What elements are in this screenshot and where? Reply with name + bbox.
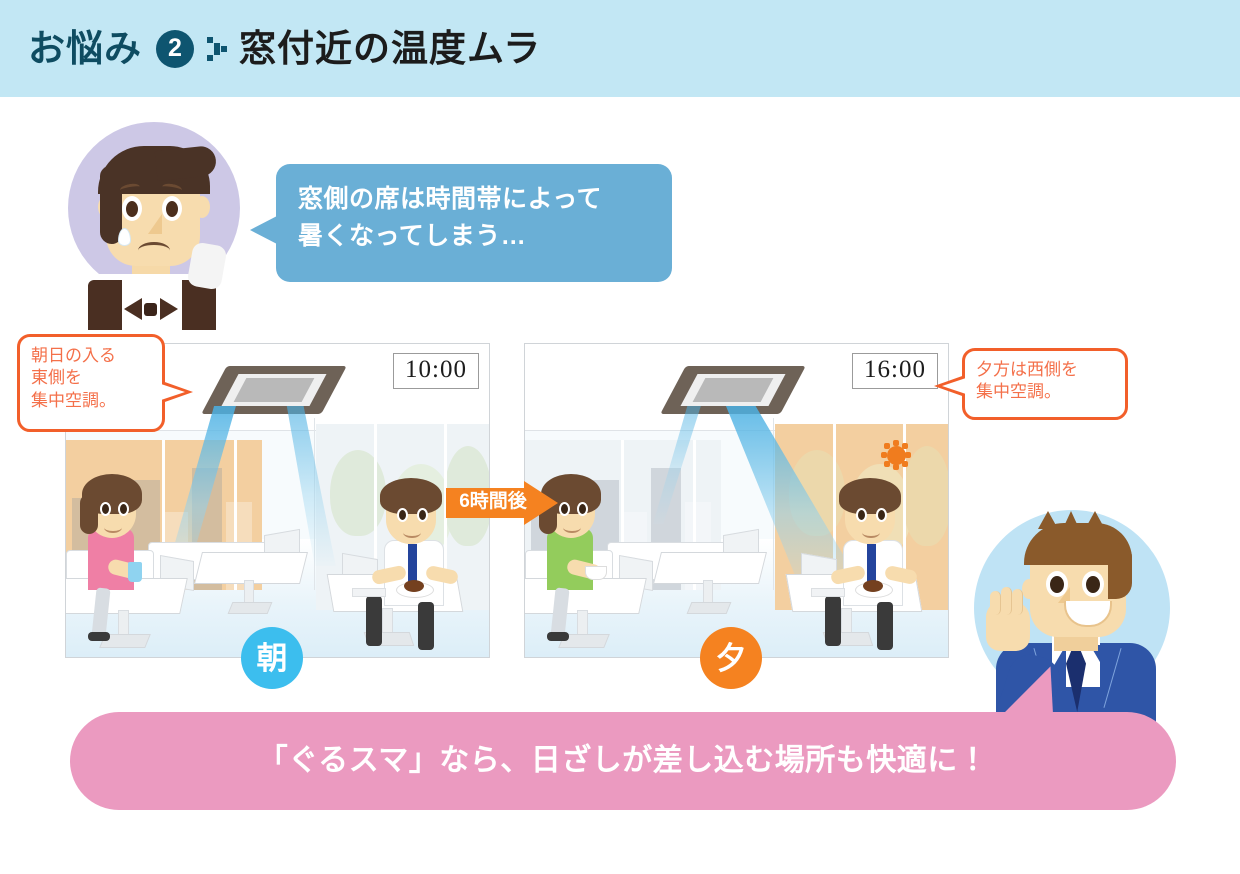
pink-banner-text: 「ぐるスマ」なら、日ざしが差し込む場所も快適に！ <box>258 746 989 776</box>
drinking-glass-icon <box>128 562 142 582</box>
salesman-brow-left <box>1044 559 1066 569</box>
callout-left: 朝日の入る 東側を 集中空調。 <box>17 334 165 432</box>
man-leg-left <box>366 596 382 646</box>
food-icon <box>404 580 424 592</box>
clock-label-evening: 16:00 <box>852 353 938 389</box>
salesman-eye-right <box>1082 571 1104 597</box>
salesman-brow-right <box>1082 559 1104 569</box>
clock-label-morning: 10:00 <box>393 353 479 389</box>
worried-hand <box>186 241 227 290</box>
badge-morning: 朝 <box>241 627 303 689</box>
worried-eye-left <box>122 196 142 221</box>
speech-bubble-line-2: 暑くなってしまう… <box>298 218 672 255</box>
tear-drop-icon <box>118 228 131 246</box>
woman-eye-left <box>559 502 570 516</box>
pink-banner: 「ぐるスマ」なら、日ざしが差し込む場所も快適に！ <box>70 712 1176 810</box>
transition-arrow: 6時間後 <box>446 481 558 525</box>
man-leg-left <box>825 596 841 646</box>
man-eye-right <box>876 508 887 522</box>
transition-arrow-label: 6時間後 <box>450 492 536 511</box>
header-number-badge: 2 <box>156 30 194 68</box>
man-hair <box>839 478 901 514</box>
woman-eye-right <box>118 502 129 516</box>
callout-right-line-2: 集中空調。 <box>976 381 1114 403</box>
coffee-cup-icon <box>585 566 607 580</box>
table-center-base <box>228 602 273 614</box>
woman-hair-side <box>80 494 98 534</box>
bow-tie-icon <box>124 298 178 320</box>
table-center-base <box>687 602 732 614</box>
speech-bubble: 窓側の席は時間帯によって 暑くなってしまう… <box>276 164 672 282</box>
woman-shoe <box>88 632 110 641</box>
callout-left-line-1: 朝日の入る <box>31 345 151 367</box>
worried-mouth <box>138 242 170 259</box>
worried-character <box>62 122 252 322</box>
callout-left-line-3: 集中空調。 <box>31 390 151 412</box>
callout-right-tail-inner <box>942 378 966 394</box>
callout-right-line-1: 夕方は西側を <box>976 359 1114 381</box>
man-hair <box>380 478 442 514</box>
salesman-finger-1 <box>990 591 1001 615</box>
food-icon <box>863 580 883 592</box>
woman-eye-left <box>100 502 111 516</box>
salesman-finger-3 <box>1012 589 1023 615</box>
worried-eye-right <box>162 196 182 221</box>
sun-icon <box>881 440 911 470</box>
chevron-right-pixel-icon <box>207 35 229 63</box>
man-eye-left <box>397 508 408 522</box>
header: お悩み 2 窓付近の温度ムラ <box>28 0 541 97</box>
worried-vest-left <box>88 280 122 330</box>
callout-right: 夕方は西側を 集中空調。 <box>962 348 1128 420</box>
woman-mouth <box>104 522 122 533</box>
callout-left-tail-inner <box>161 384 185 400</box>
salesman-hair-spike-3 <box>1084 511 1106 531</box>
man-leg-right <box>418 602 434 650</box>
scene-evening: 16:00 <box>524 343 949 658</box>
salesman-finger-2 <box>1001 587 1012 615</box>
napkin-icon <box>352 588 386 597</box>
woman-shoe <box>547 632 569 641</box>
worried-nose <box>148 214 162 234</box>
man-eye-left <box>856 508 867 522</box>
napkin-icon <box>811 588 845 597</box>
speech-bubble-line-1: 窓側の席は時間帯によって <box>298 181 672 218</box>
man-eye-right <box>417 508 428 522</box>
woman-mouth <box>563 522 581 533</box>
callout-left-line-2: 東側を <box>31 367 151 389</box>
woman-eye-right <box>577 502 588 516</box>
infographic-page: お悩み 2 窓付近の温度ムラ <box>0 0 1240 874</box>
salesman-hair-spike-1 <box>1038 511 1058 529</box>
man-mouth <box>862 527 880 538</box>
header-prefix-label: お悩み <box>28 30 142 67</box>
man-leg-right <box>877 602 893 650</box>
page-title: 窓付近の温度ムラ <box>239 30 541 67</box>
salesman-hair-spike-2 <box>1060 511 1082 535</box>
man-mouth <box>403 527 421 538</box>
badge-evening: 夕 <box>700 627 762 689</box>
salesman-hair-side <box>1108 543 1132 599</box>
